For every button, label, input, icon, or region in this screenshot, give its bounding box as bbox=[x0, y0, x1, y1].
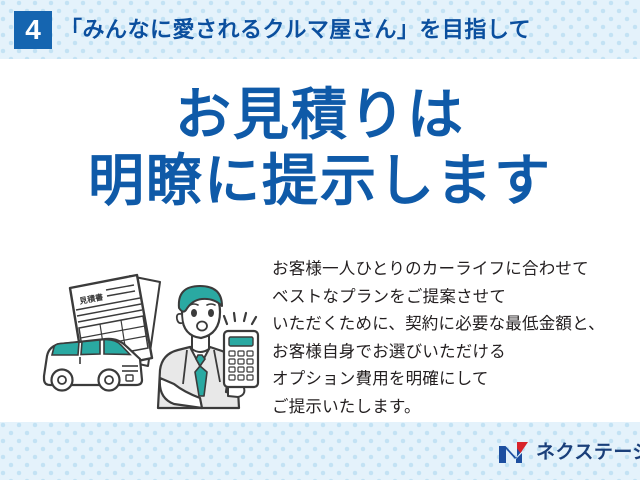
headline-line-1: お見積りは bbox=[0, 82, 640, 148]
van-icon bbox=[44, 339, 142, 391]
promo-banner: 4 「みんなに愛されるクルマ屋さん」を目指して お見積りは 明瞭に提示します お… bbox=[0, 0, 640, 480]
nextage-n-logo-icon bbox=[498, 441, 529, 464]
headline: お見積りは 明瞭に提示します bbox=[0, 82, 640, 214]
body-copy: お客様一人ひとりのカーライフに合わせて ベストなプランをご提案させて いただくた… bbox=[272, 256, 636, 421]
body-copy-line-6: ご提示いたします。 bbox=[272, 394, 636, 422]
body-copy-line-5: オプション費用を明確にして bbox=[272, 366, 636, 394]
body-copy-line-1: お客様一人ひとりのカーライフに合わせて bbox=[272, 256, 636, 284]
sparkle-icon bbox=[224, 313, 256, 324]
calculator-icon bbox=[224, 313, 258, 387]
body-copy-line-3: いただくために、契約に必要な最低金額と、 bbox=[272, 311, 636, 339]
nextage-logo: ネクステージ bbox=[498, 440, 640, 464]
header-title: 「みんなに愛されるクルマ屋さん」を目指して bbox=[60, 13, 531, 47]
nextage-wordmark: ネクステージ bbox=[536, 441, 640, 464]
body-copy-line-2: ベストなプランをご提案させて bbox=[272, 284, 636, 312]
headline-line-2: 明瞭に提示します bbox=[0, 148, 640, 214]
salesman-with-calculator-illustration: 見積書 bbox=[34, 258, 274, 420]
body-copy-line-4: お客様自身でお選びいただける bbox=[272, 339, 636, 367]
header-number-badge: 4 bbox=[14, 11, 52, 49]
